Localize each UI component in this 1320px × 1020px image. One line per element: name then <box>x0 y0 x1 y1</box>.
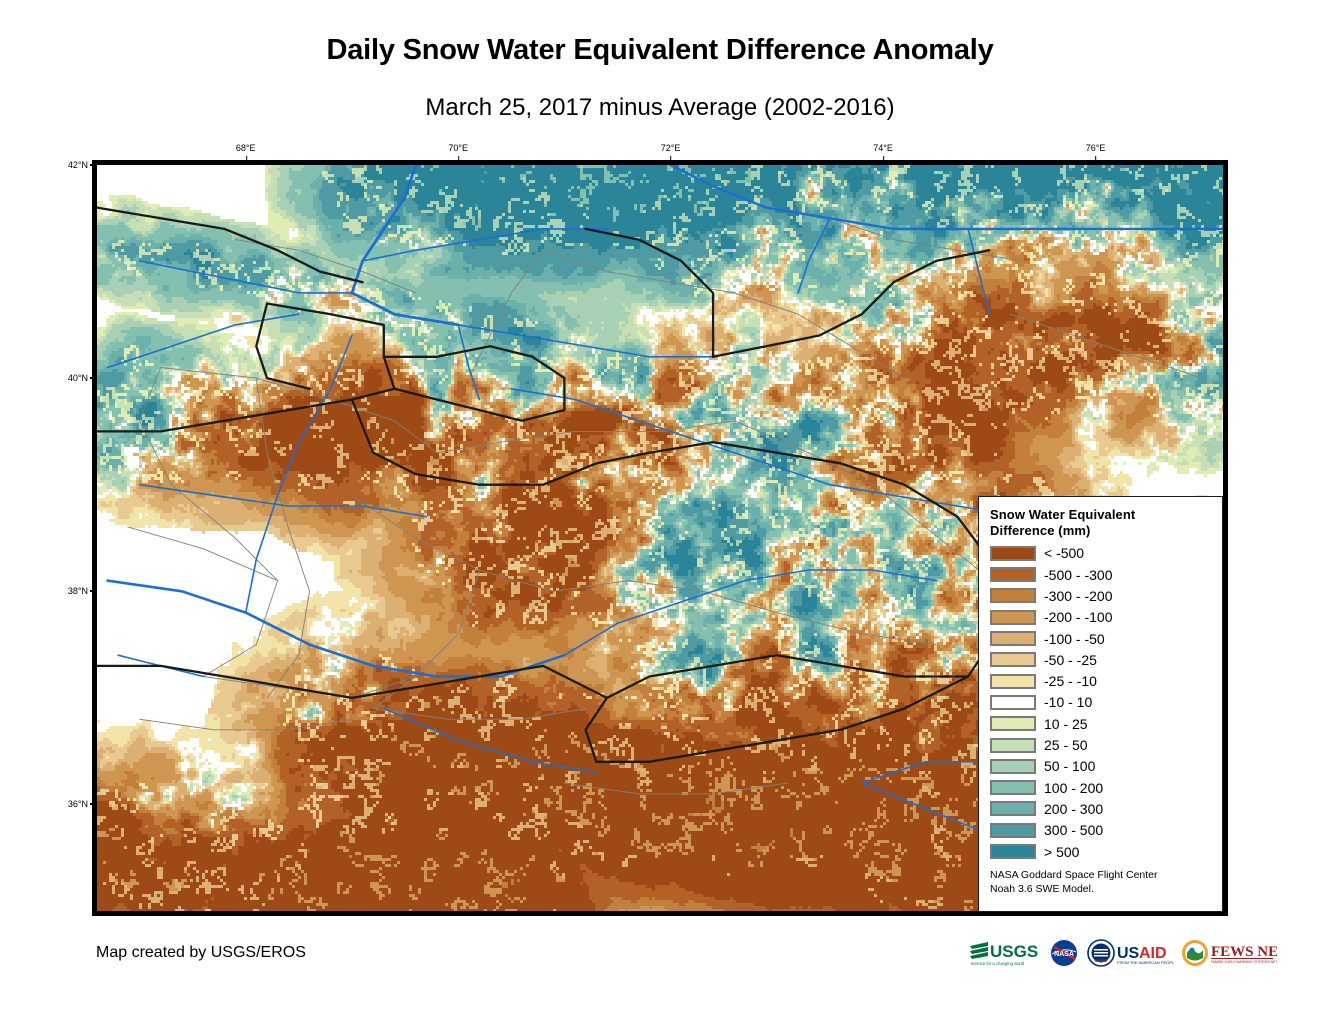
legend-row: -100 - -50 <box>990 628 1212 649</box>
lat-tick-label: 42°N <box>68 160 88 170</box>
legend-label: 200 - 300 <box>1044 801 1103 817</box>
legend-swatch <box>990 738 1036 753</box>
lon-tick-label: 70°E <box>448 143 468 153</box>
legend-class-list: < -500-500 - -300-300 - -200-200 - -100-… <box>990 543 1212 862</box>
svg-text:USAID: USAID <box>1095 958 1108 963</box>
lon-tick-label: 72°E <box>661 143 681 153</box>
legend-note-line2: Noah 3.6 SWE Model. <box>990 883 1212 897</box>
legend-row: 300 - 500 <box>990 820 1212 841</box>
legend-swatch <box>990 652 1036 667</box>
legend-swatch <box>990 588 1036 603</box>
agency-logo-row: USGS science for a changing world NASA U… <box>968 936 1277 970</box>
usaid-logo: USAID US AID FROM THE AMERICAN PEOPLE <box>1086 938 1174 968</box>
legend-label: -300 - -200 <box>1044 588 1112 604</box>
legend-row: -10 - 10 <box>990 692 1212 713</box>
lon-tick-74: 74°E <box>873 143 893 153</box>
legend-swatch <box>990 844 1036 859</box>
svg-text:FROM THE AMERICAN PEOPLE: FROM THE AMERICAN PEOPLE <box>1117 960 1174 965</box>
legend-label: 10 - 25 <box>1044 716 1088 732</box>
lon-tick-68: 68°E <box>236 143 256 153</box>
lat-tick-label: 36°N <box>68 799 88 809</box>
legend-row: 50 - 100 <box>990 756 1212 777</box>
legend-row: -500 - -300 <box>990 564 1212 585</box>
legend-label: 100 - 200 <box>1044 780 1103 796</box>
lat-tick-36: 36°N <box>52 799 88 809</box>
legend-row: -200 - -100 <box>990 607 1212 628</box>
map-legend: Snow Water Equivalent Difference (mm) < … <box>978 496 1223 912</box>
lon-tick-label: 76°E <box>1086 143 1106 153</box>
legend-row: > 500 <box>990 841 1212 862</box>
fewsnet-logo: FEWS NET FAMINE EARLY WARNING SYSTEMS NE… <box>1181 938 1277 968</box>
legend-row: 10 - 25 <box>990 713 1212 734</box>
legend-swatch <box>990 695 1036 710</box>
legend-label: -200 - -100 <box>1044 609 1112 625</box>
legend-row: -50 - -25 <box>990 649 1212 670</box>
lon-tick-label: 68°E <box>236 143 256 153</box>
lon-tick-72: 72°E <box>661 143 681 153</box>
svg-text:FEWS NET: FEWS NET <box>1211 944 1277 960</box>
svg-text:NASA: NASA <box>1054 951 1074 958</box>
legend-swatch <box>990 567 1036 582</box>
lat-tick-label: 40°N <box>68 373 88 383</box>
legend-swatch <box>990 801 1036 816</box>
legend-row: 25 - 50 <box>990 734 1212 755</box>
nasa-logo: NASA <box>1049 938 1079 968</box>
legend-label: -10 - 10 <box>1044 694 1092 710</box>
legend-label: > 500 <box>1044 844 1079 860</box>
page-title: Daily Snow Water Equivalent Difference A… <box>0 34 1320 67</box>
legend-label: -100 - -50 <box>1044 631 1105 647</box>
legend-swatch <box>990 780 1036 795</box>
legend-label: 50 - 100 <box>1044 758 1095 774</box>
map-page: Daily Snow Water Equivalent Difference A… <box>0 0 1320 1020</box>
legend-label: 25 - 50 <box>1044 737 1088 753</box>
lon-tick-70: 70°E <box>448 143 468 153</box>
lat-tick-38: 38°N <box>52 586 88 596</box>
legend-label: -500 - -300 <box>1044 567 1112 583</box>
legend-swatch <box>990 546 1036 561</box>
legend-swatch <box>990 610 1036 625</box>
svg-text:science for a changing world: science for a changing world <box>971 961 1025 966</box>
page-subtitle: March 25, 2017 minus Average (2002-2016) <box>0 94 1320 122</box>
lat-tick-label: 38°N <box>68 586 88 596</box>
legend-label: < -500 <box>1044 545 1084 561</box>
legend-swatch <box>990 716 1036 731</box>
legend-note-line1: NASA Goddard Space Flight Center <box>990 869 1212 883</box>
legend-label: 300 - 500 <box>1044 822 1103 838</box>
legend-label: -50 - -25 <box>1044 652 1097 668</box>
legend-swatch <box>990 631 1036 646</box>
legend-row: -300 - -200 <box>990 585 1212 606</box>
legend-note: NASA Goddard Space Flight Center Noah 3.… <box>990 869 1212 897</box>
legend-title-line1: Snow Water Equivalent <box>990 507 1212 523</box>
lon-tick-76: 76°E <box>1086 143 1106 153</box>
lat-tick-42: 42°N <box>52 160 88 170</box>
legend-swatch <box>990 759 1036 774</box>
legend-swatch <box>990 674 1036 689</box>
legend-row: -25 - -10 <box>990 671 1212 692</box>
legend-row: < -500 <box>990 543 1212 564</box>
usgs-logo: USGS science for a changing world <box>968 938 1042 968</box>
svg-text:USGS: USGS <box>990 942 1038 961</box>
legend-title: Snow Water Equivalent Difference (mm) <box>990 507 1212 539</box>
legend-swatch <box>990 823 1036 838</box>
map-credit: Map created by USGS/EROS <box>96 944 306 962</box>
svg-text:FAMINE EARLY WARNING SYSTEMS N: FAMINE EARLY WARNING SYSTEMS NETWORK <box>1211 960 1277 964</box>
legend-row: 100 - 200 <box>990 777 1212 798</box>
legend-row: 200 - 300 <box>990 798 1212 819</box>
legend-label: -25 - -10 <box>1044 673 1097 689</box>
admin-boundary <box>129 527 278 580</box>
lat-tick-40: 40°N <box>52 373 88 383</box>
lon-tick-label: 74°E <box>873 143 893 153</box>
legend-title-line2: Difference (mm) <box>990 523 1212 539</box>
